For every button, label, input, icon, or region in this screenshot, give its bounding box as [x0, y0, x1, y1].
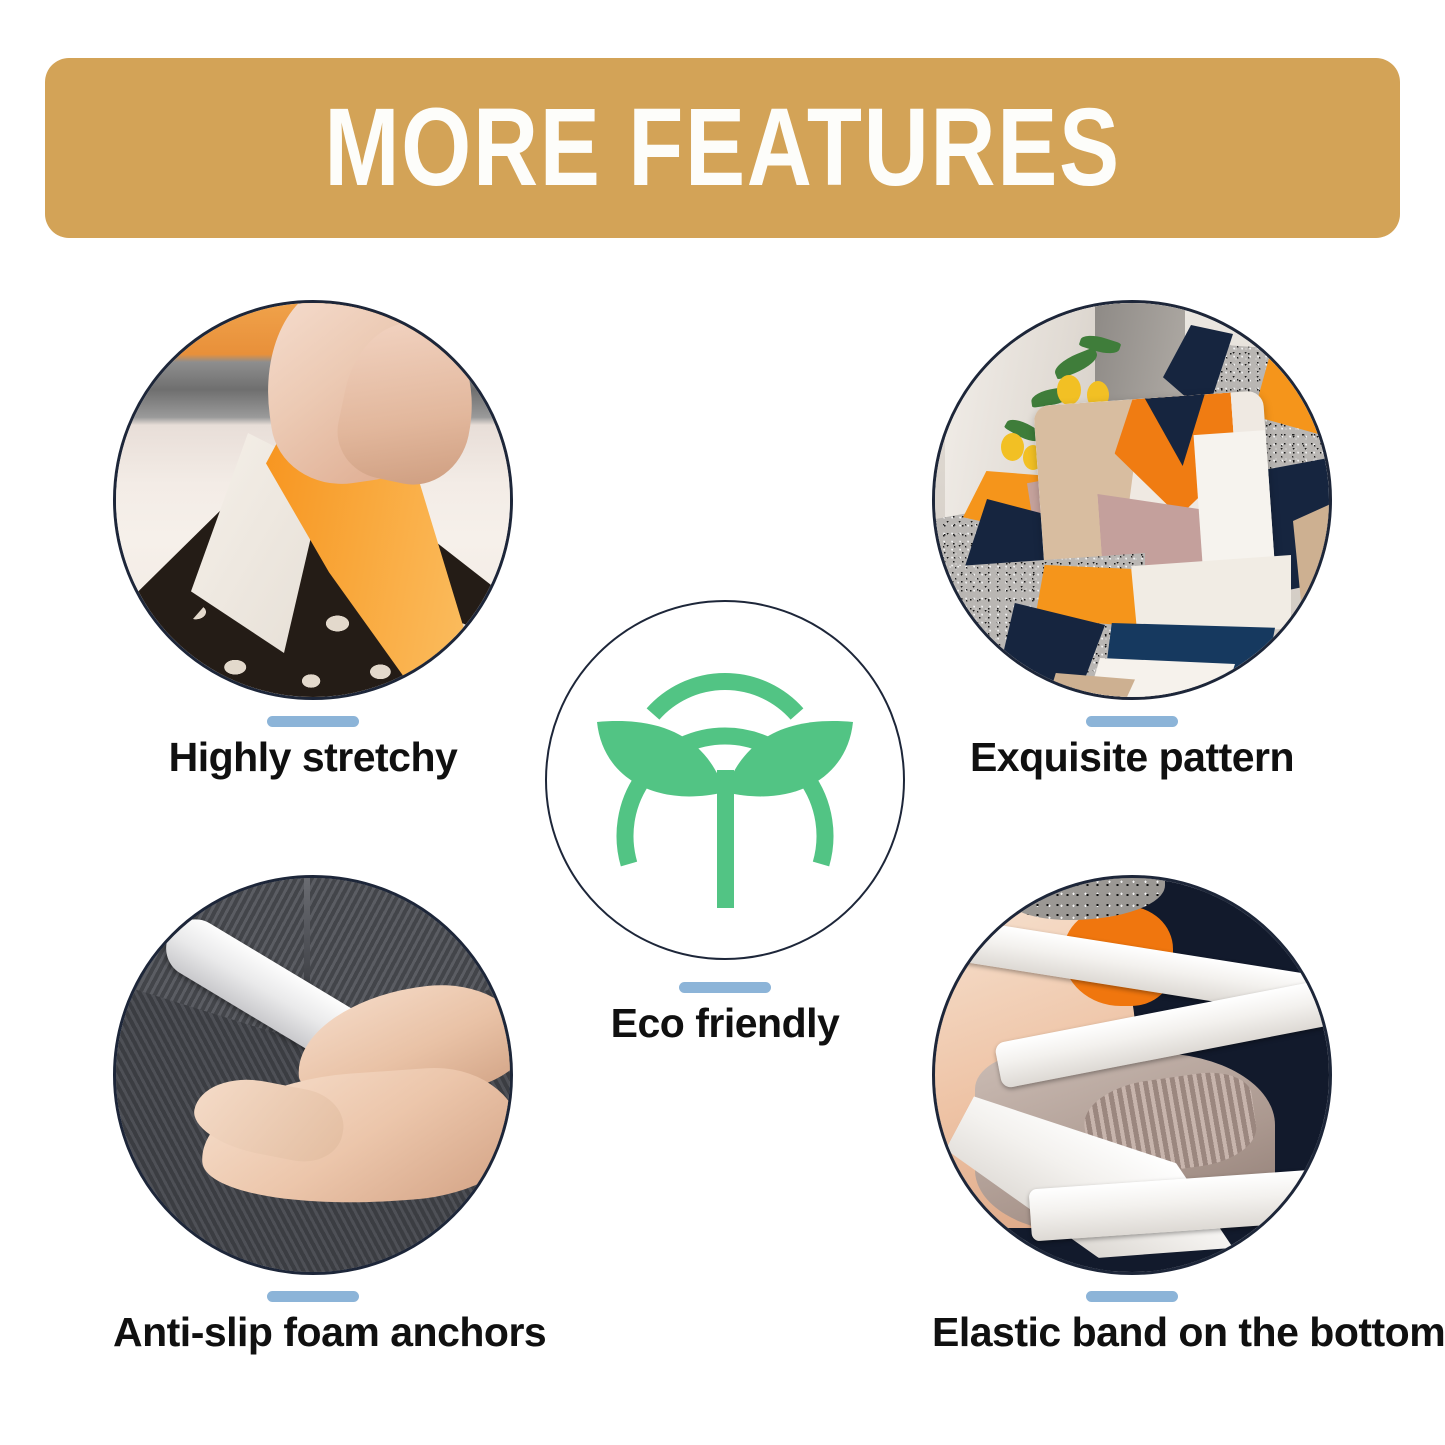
sofa-patch-cream: [1131, 555, 1291, 635]
eco-sprout-icon: [575, 630, 875, 930]
photo-highly-stretchy: [113, 300, 513, 700]
caption-highly-stretchy: Highly stretchy: [113, 700, 513, 780]
accent-bar-icon: [679, 982, 771, 993]
eco-badge-circle: [545, 600, 905, 960]
eco-friendly-badge: Eco friendly: [545, 600, 905, 1046]
photo-elastic-band: [932, 875, 1332, 1275]
page-title: MORE FEATURES: [324, 93, 1120, 203]
feature-exquisite-pattern: Exquisite pattern: [932, 300, 1332, 780]
feature-label-anti-slip-foam-anchors: Anti-slip foam anchors: [113, 1310, 513, 1355]
feature-elastic-band-on-the-bottom: Elastic band on the bottom: [932, 875, 1332, 1355]
lemon-fruit: [1001, 433, 1024, 461]
accent-bar-icon: [1086, 1291, 1178, 1302]
photo-exquisite-pattern: [932, 300, 1332, 700]
photo-anti-slip-foam-anchors: [113, 875, 513, 1275]
feature-anti-slip-foam-anchors: Anti-slip foam anchors: [113, 875, 513, 1355]
header-banner: MORE FEATURES: [45, 58, 1400, 238]
accent-bar-icon: [1086, 716, 1178, 727]
feature-label-eco-friendly: Eco friendly: [545, 1001, 905, 1046]
caption-exquisite-pattern: Exquisite pattern: [932, 700, 1332, 780]
caption-elastic-band: Elastic band on the bottom: [932, 1275, 1332, 1355]
feature-label-highly-stretchy: Highly stretchy: [113, 735, 513, 780]
caption-anti-slip-foam-anchors: Anti-slip foam anchors: [113, 1275, 513, 1355]
feature-label-exquisite-pattern: Exquisite pattern: [932, 735, 1332, 780]
caption-eco-friendly: Eco friendly: [545, 960, 905, 1046]
feature-label-elastic-band-on-the-bottom: Elastic band on the bottom: [932, 1310, 1332, 1355]
lemon-fruit: [1057, 375, 1081, 405]
feature-highly-stretchy: Highly stretchy: [113, 300, 513, 780]
infographic-page: MORE FEATURES Highly stretchy: [0, 0, 1445, 1445]
accent-bar-icon: [267, 1291, 359, 1302]
accent-bar-icon: [267, 716, 359, 727]
